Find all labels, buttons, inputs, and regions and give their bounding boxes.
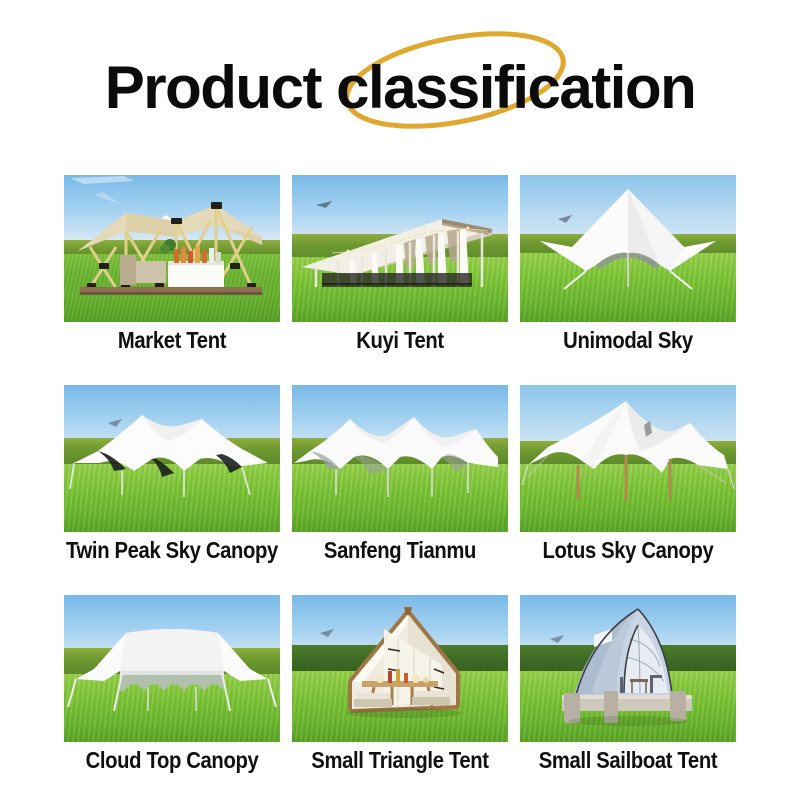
product-image-cloud-top-canopy [64, 595, 280, 742]
product-image-small-triangle-tent [292, 595, 508, 742]
product-label: Kuyi Tent [270, 327, 530, 354]
small-triangle-tent-illustration [292, 595, 508, 742]
product-image-twin-peak-sky-canopy [64, 385, 280, 532]
product-label: Lotus Sky Canopy [498, 537, 758, 564]
page-title: Product classification [0, 58, 800, 118]
product-card-kuyi-tent[interactable]: Kuyi Tent [292, 175, 508, 385]
product-label: Small Triangle Tent [270, 747, 530, 774]
product-card-cloud-top-canopy[interactable]: Cloud Top Canopy [64, 595, 280, 805]
small-sailboat-tent-illustration [520, 595, 736, 742]
product-card-twin-peak-sky-canopy[interactable]: Twin Peak Sky Canopy [64, 385, 280, 595]
page-header: Product classification [0, 0, 800, 160]
twin-peak-canopy-illustration [64, 385, 280, 532]
lotus-sky-canopy-illustration [520, 385, 736, 532]
product-image-small-sailboat-tent [520, 595, 736, 742]
kuyi-tent-illustration [292, 175, 508, 322]
product-card-unimodal-sky[interactable]: Unimodal Sky [520, 175, 736, 385]
cloud-top-canopy-illustration [64, 595, 280, 742]
product-label: Unimodal Sky [498, 327, 758, 354]
market-tent-illustration [64, 175, 280, 322]
product-card-sanfeng-tianmu[interactable]: Sanfeng Tianmu [292, 385, 508, 595]
product-card-market-tent[interactable]: Market Tent [64, 175, 280, 385]
product-image-unimodal-sky [520, 175, 736, 322]
product-image-market-tent [64, 175, 280, 322]
sanfeng-tianmu-illustration [292, 385, 508, 532]
product-label: Twin Peak Sky Canopy [42, 537, 302, 564]
product-label: Sanfeng Tianmu [270, 537, 530, 564]
product-image-lotus-sky-canopy [520, 385, 736, 532]
product-label: Cloud Top Canopy [42, 747, 302, 774]
product-card-small-triangle-tent[interactable]: Small Triangle Tent [292, 595, 508, 805]
product-label: Market Tent [42, 327, 302, 354]
product-card-lotus-sky-canopy[interactable]: Lotus Sky Canopy [520, 385, 736, 595]
product-image-kuyi-tent [292, 175, 508, 322]
product-label: Small Sailboat Tent [498, 747, 758, 774]
unimodal-sky-illustration [520, 175, 736, 322]
product-grid: Market Tent [64, 175, 736, 805]
product-image-sanfeng-tianmu [292, 385, 508, 532]
product-card-small-sailboat-tent[interactable]: Small Sailboat Tent [520, 595, 736, 805]
